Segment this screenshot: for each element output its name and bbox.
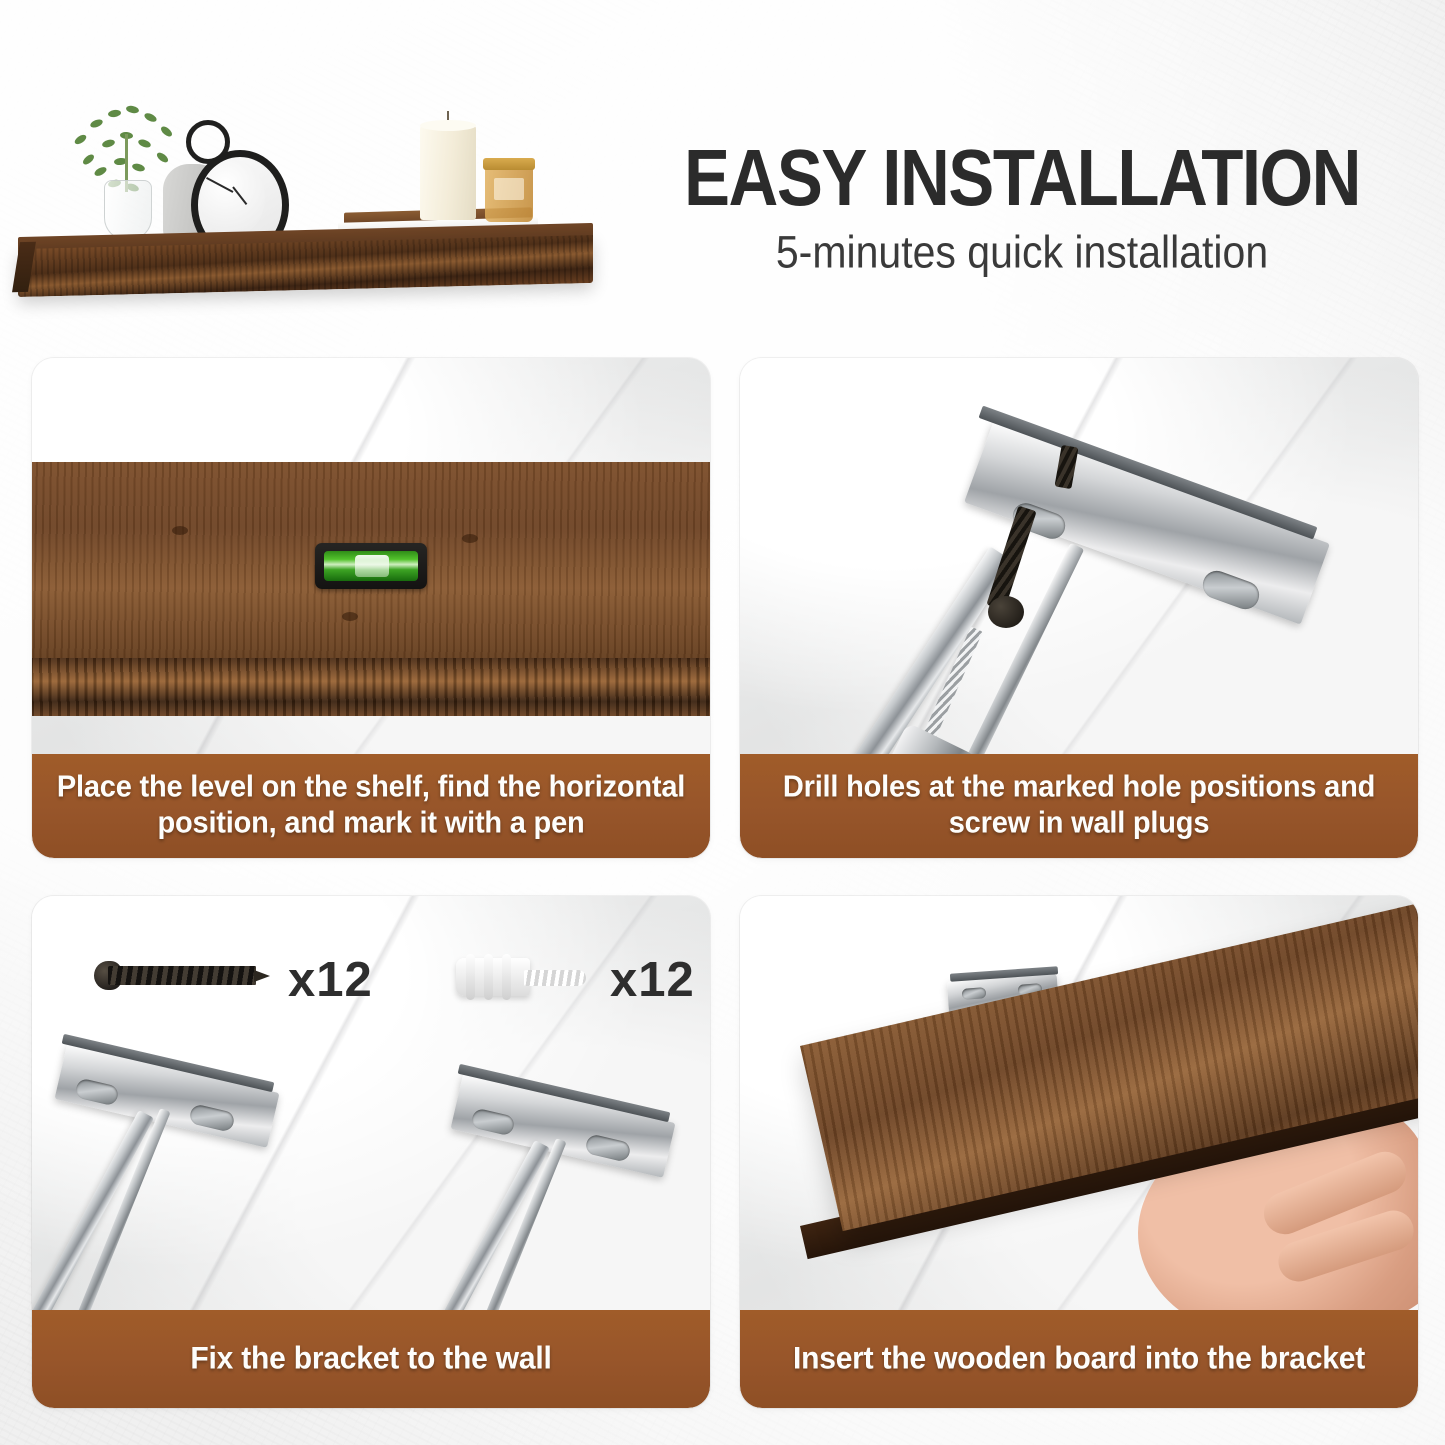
step-3-caption-text: Fix the bracket to the wall: [190, 1341, 551, 1378]
step-2-photo: [740, 358, 1418, 754]
page-subtitle: 5-minutes quick installation: [612, 228, 1432, 278]
step-card-4: Insert the wooden board into the bracket: [740, 896, 1418, 1408]
pillar-candle: [420, 124, 476, 220]
candle-top: [420, 120, 476, 131]
wall-plug-quantity-label: x12: [610, 952, 695, 1008]
wall-plug-rib-2: [484, 954, 493, 1000]
step-2-caption-text: Drill holes at the marked hole positions…: [758, 770, 1400, 841]
jar-label: [494, 178, 524, 200]
step-card-1: Place the level on the shelf, find the h…: [32, 358, 710, 858]
step-3-caption-bar: Fix the bracket to the wall: [32, 1310, 710, 1408]
hero-shelf-scene: [8, 92, 608, 322]
hero-banner: EASY INSTALLATION 5-minutes quick instal…: [0, 0, 1445, 330]
wood-board-lower-grain: [32, 658, 710, 716]
step-2-caption-bar: Drill holes at the marked hole positions…: [740, 754, 1418, 858]
wall-plug-tail: [524, 970, 586, 986]
step-card-3: x12 x12 Fix the bracket to the wall: [32, 896, 710, 1408]
wall-bracket-slot-1: [962, 987, 987, 1000]
step-1-photo: [32, 358, 710, 754]
parts-list-row: x12 x12: [32, 914, 710, 1034]
screw-head: [988, 596, 1024, 628]
step-4-photo: [740, 896, 1418, 1310]
wall-plug-rib-1: [466, 954, 475, 1000]
page-title: EASY INSTALLATION: [612, 140, 1432, 217]
level-bubble: [355, 555, 389, 577]
glass-vase: [104, 180, 152, 240]
jar-lid: [483, 158, 535, 170]
step-card-2: Drill holes at the marked hole positions…: [740, 358, 1418, 858]
step-1-caption-text: Place the level on the shelf, find the h…: [50, 770, 692, 841]
step-4-caption-bar: Insert the wooden board into the bracket: [740, 1310, 1418, 1408]
screw-quantity-label: x12: [288, 952, 373, 1008]
clock-face: [201, 160, 265, 236]
wall-plug-rib-3: [502, 954, 511, 1000]
bubble-level: [315, 543, 427, 589]
step-4-caption-text: Insert the wooden board into the bracket: [793, 1341, 1365, 1378]
step-3-photo: x12 x12: [32, 896, 710, 1310]
wood-screw-shaft: [108, 966, 256, 985]
wood-screw-tip: [254, 970, 270, 982]
step-1-caption-bar: Place the level on the shelf, find the h…: [32, 754, 710, 858]
